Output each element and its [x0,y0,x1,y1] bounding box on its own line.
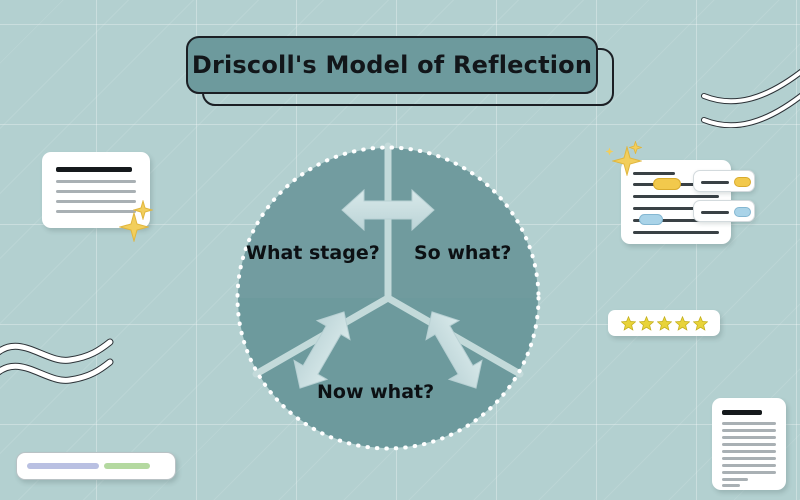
page-title: Driscoll's Model of Reflection [192,51,592,79]
wave-lines-left [0,324,124,388]
title-banner-group: Driscoll's Model of Reflection [186,36,606,98]
card-text-line [722,464,776,467]
card-text-line [722,450,776,453]
sector-label-what-stage: What stage? [246,242,380,264]
sparkle-icon [629,141,642,154]
reflection-wheel: What stage? So what? Now what? [228,138,548,458]
card-text-line [722,471,776,474]
progress-bar-blue[interactable] [27,463,99,469]
card-text-line [56,190,136,193]
card-text-line [722,436,776,439]
card-text-line [722,422,776,425]
card-text-line [722,478,748,481]
card-text-line [722,429,776,432]
subcard-yellow[interactable] [693,170,755,192]
document-card-bottomright [712,398,786,490]
card-text-line [56,200,136,203]
star-icon[interactable] [693,316,708,331]
card-text-line [701,181,729,184]
wheel-svg [228,138,548,458]
subcard-blue[interactable] [693,200,755,222]
star-icon[interactable] [675,316,690,331]
card-text-line [56,180,136,183]
star-icon[interactable] [621,316,636,331]
sector-label-now-what: Now what? [317,381,434,403]
card-text-line [701,211,729,214]
sparkle-icon [605,147,614,156]
card-text-line [722,457,776,460]
card-heading-line [722,410,762,415]
star-icon[interactable] [639,316,654,331]
card-text-line [633,195,719,198]
blue-pill[interactable] [734,207,751,217]
sector-label-so-what: So what? [414,242,511,264]
card-text-line [722,443,776,446]
progress-bar-green[interactable] [104,463,150,469]
card-text-line [633,231,719,234]
title-banner: Driscoll's Model of Reflection [186,36,598,94]
sparkle-icon [119,212,149,242]
star-icon[interactable] [657,316,672,331]
card-heading-line [56,167,132,172]
yellow-pill[interactable] [734,177,751,187]
yellow-pill[interactable] [653,178,681,190]
progress-bars-widget[interactable] [16,452,176,480]
wave-lines-topright [700,62,800,128]
star-rating[interactable] [608,310,720,336]
card-text-line [722,484,740,487]
blue-pill[interactable] [639,214,663,225]
